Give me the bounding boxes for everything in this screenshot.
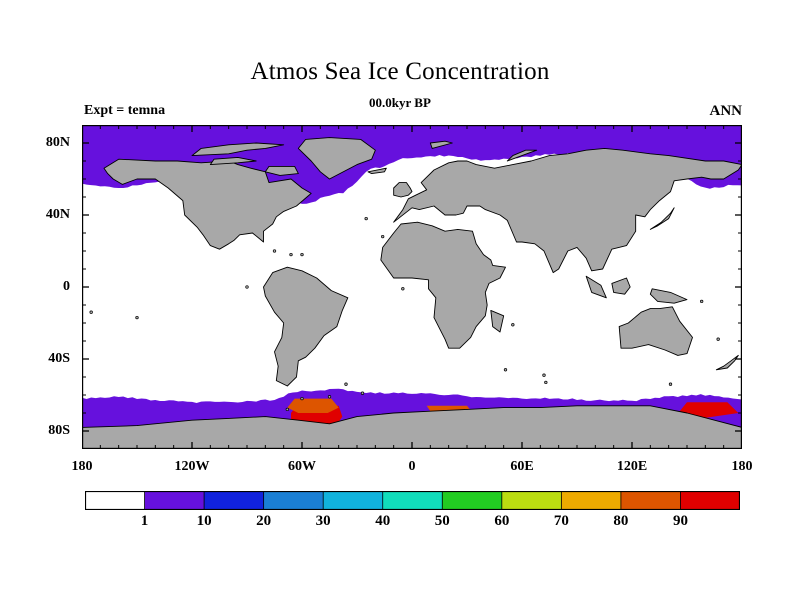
x-axis-tick-label: 0 xyxy=(409,459,416,475)
colorbar-segment xyxy=(85,491,145,510)
colorbar-tick-label: 80 xyxy=(613,513,628,530)
colorbar xyxy=(85,491,740,510)
x-axis-tick-label: 180 xyxy=(72,459,93,475)
x-axis-tick-label: 120W xyxy=(175,459,210,475)
colorbar-tick-label: 10 xyxy=(197,513,212,530)
x-axis-tick-label: 180 xyxy=(732,459,753,475)
page-title: Atmos Sea Ice Concentration xyxy=(0,58,800,86)
colorbar-swatches xyxy=(85,491,740,510)
colorbar-segment xyxy=(621,491,681,510)
colorbar-tick-label: 50 xyxy=(435,513,450,530)
colorbar-tick-label: 40 xyxy=(375,513,390,530)
colorbar-tick-label: 20 xyxy=(256,513,271,530)
x-axis-tick-label: 60E xyxy=(510,459,533,475)
colorbar-segment xyxy=(145,491,205,510)
map-plot-area xyxy=(82,125,742,449)
colorbar-tick-label: 90 xyxy=(673,513,688,530)
colorbar-tick-label: 60 xyxy=(494,513,509,530)
experiment-label: Expt = temna xyxy=(84,103,165,119)
sea-ice-concentration-figure: Atmos Sea Ice Concentration 00.0kyr BP E… xyxy=(0,0,800,600)
x-axis-tick-label: 60W xyxy=(288,459,316,475)
y-axis-tick-label: 80S xyxy=(18,423,70,439)
colorbar-tick-label: 1 xyxy=(141,513,149,530)
colorbar-segment xyxy=(383,491,443,510)
y-axis-tick-label: 40S xyxy=(18,351,70,367)
colorbar-tick-label: 70 xyxy=(554,513,569,530)
colorbar-segment xyxy=(561,491,621,510)
x-axis-tick-label: 120E xyxy=(617,459,647,475)
colorbar-segment xyxy=(502,491,562,510)
map-canvas xyxy=(82,125,742,449)
colorbar-tick-label: 30 xyxy=(316,513,331,530)
colorbar-segment xyxy=(442,491,502,510)
y-axis-tick-label: 40N xyxy=(18,207,70,223)
y-axis-tick-label: 0 xyxy=(18,279,70,295)
colorbar-segment xyxy=(680,491,740,510)
colorbar-segment xyxy=(264,491,324,510)
season-label: ANN xyxy=(710,103,743,120)
colorbar-segment xyxy=(204,491,264,510)
y-axis-tick-label: 80N xyxy=(18,135,70,151)
colorbar-segment xyxy=(323,491,383,510)
